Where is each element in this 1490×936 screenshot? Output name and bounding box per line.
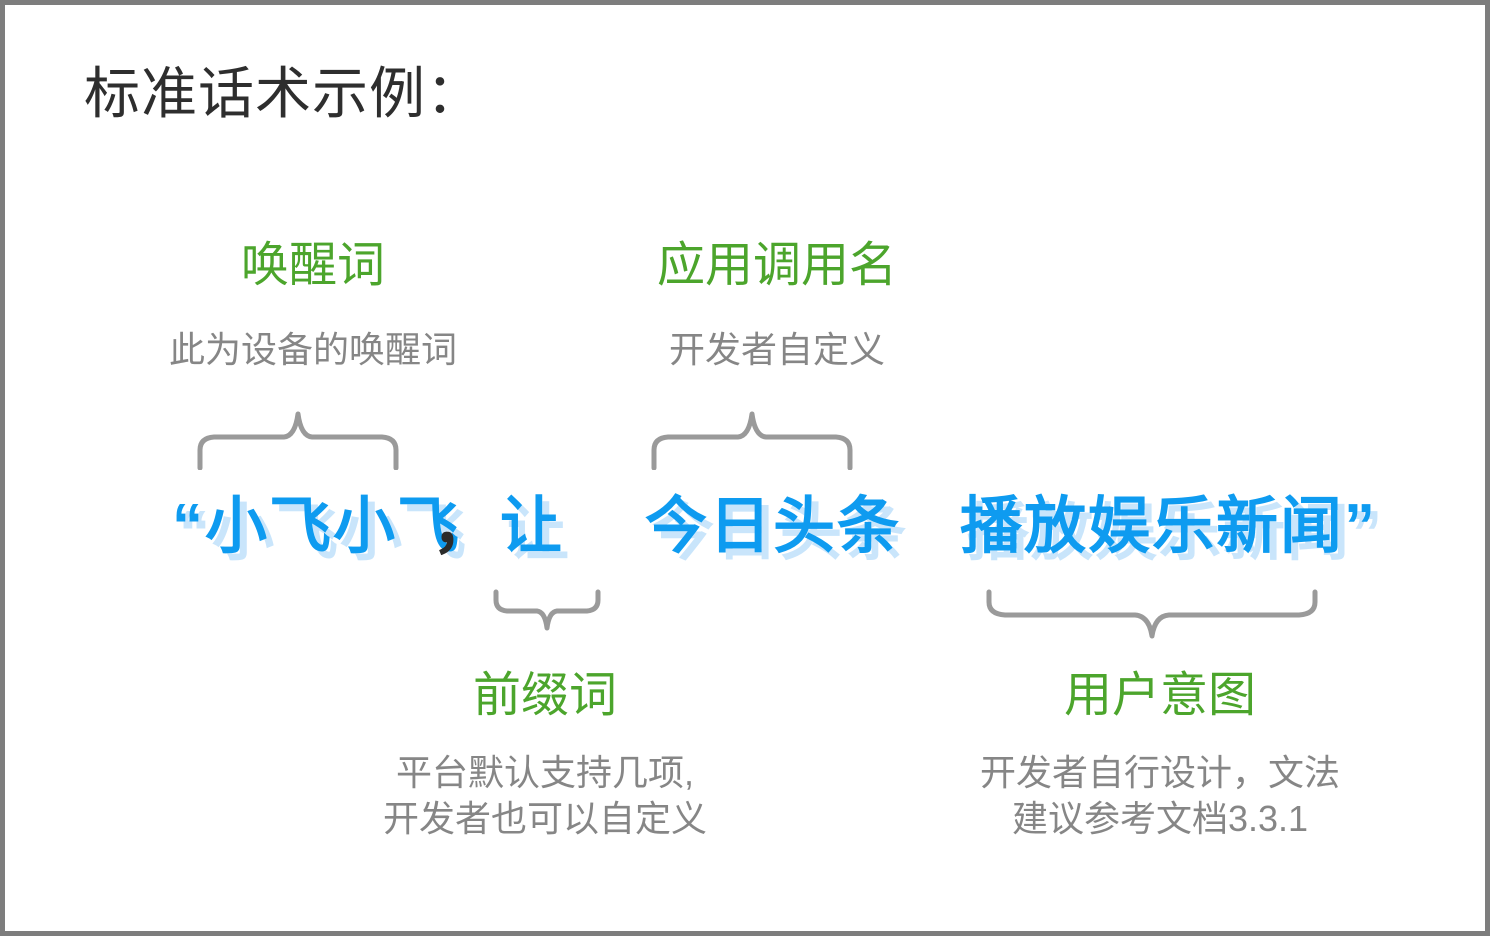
example-utterance: “小飞小飞 ， 让 今日头条 播放娱乐新闻” <box>0 487 1490 573</box>
annotation-label-prefix-word: 前缀词 <box>345 668 745 724</box>
annotation-description-prefix-word: 平台默认支持几项, 开发者也可以自定义 <box>345 750 745 842</box>
annotation-description-user-intent: 开发者自行设计，文法 建议参考文档3.3.1 <box>960 750 1360 842</box>
annotation-description-app-name: 开发者自定义 <box>577 327 977 373</box>
annotation-description-prefix-word-line2: 开发者也可以自定义 <box>345 796 745 842</box>
annotation-description-user-intent-line1: 开发者自行设计，文法 <box>960 750 1360 796</box>
slide-frame-left-border <box>0 0 5 936</box>
annotation-label-app-name: 应用调用名 <box>577 238 977 294</box>
annotation-label-user-intent: 用户意图 <box>960 668 1360 724</box>
annotation-description-prefix-word-line1: 平台默认支持几项, <box>345 750 745 796</box>
curly-brace-up-wake-word-icon <box>196 410 400 470</box>
curly-brace-up-app-name-icon <box>650 410 854 470</box>
curly-brace-down-user-intent-icon <box>985 588 1320 644</box>
slide-frame-top-border <box>0 0 1490 5</box>
annotation-description-user-intent-line2: 建议参考文档3.3.1 <box>960 796 1360 842</box>
utterance-segment-prefix-word: 让 <box>500 487 564 567</box>
utterance-comma: ， <box>432 487 494 567</box>
annotation-label-wake-word: 唤醒词 <box>113 238 513 294</box>
slide-frame-right-border <box>1485 0 1490 936</box>
curly-brace-down-prefix-word-icon <box>492 588 602 638</box>
slide-frame-bottom-border <box>0 931 1490 936</box>
utterance-segment-user-intent: 播放娱乐新闻” <box>960 487 1377 567</box>
slide-canvas: 标准话术示例： 唤醒词 此为设备的唤醒词 应用调用名 开发者自定义 “小飞小飞 … <box>0 0 1490 936</box>
slide-title: 标准话术示例： <box>84 60 483 128</box>
annotation-description-wake-word: 此为设备的唤醒词 <box>113 327 513 373</box>
utterance-segment-app-name: 今日头条 <box>645 487 901 567</box>
utterance-segment-wake-word: “小飞小飞 <box>172 487 461 567</box>
